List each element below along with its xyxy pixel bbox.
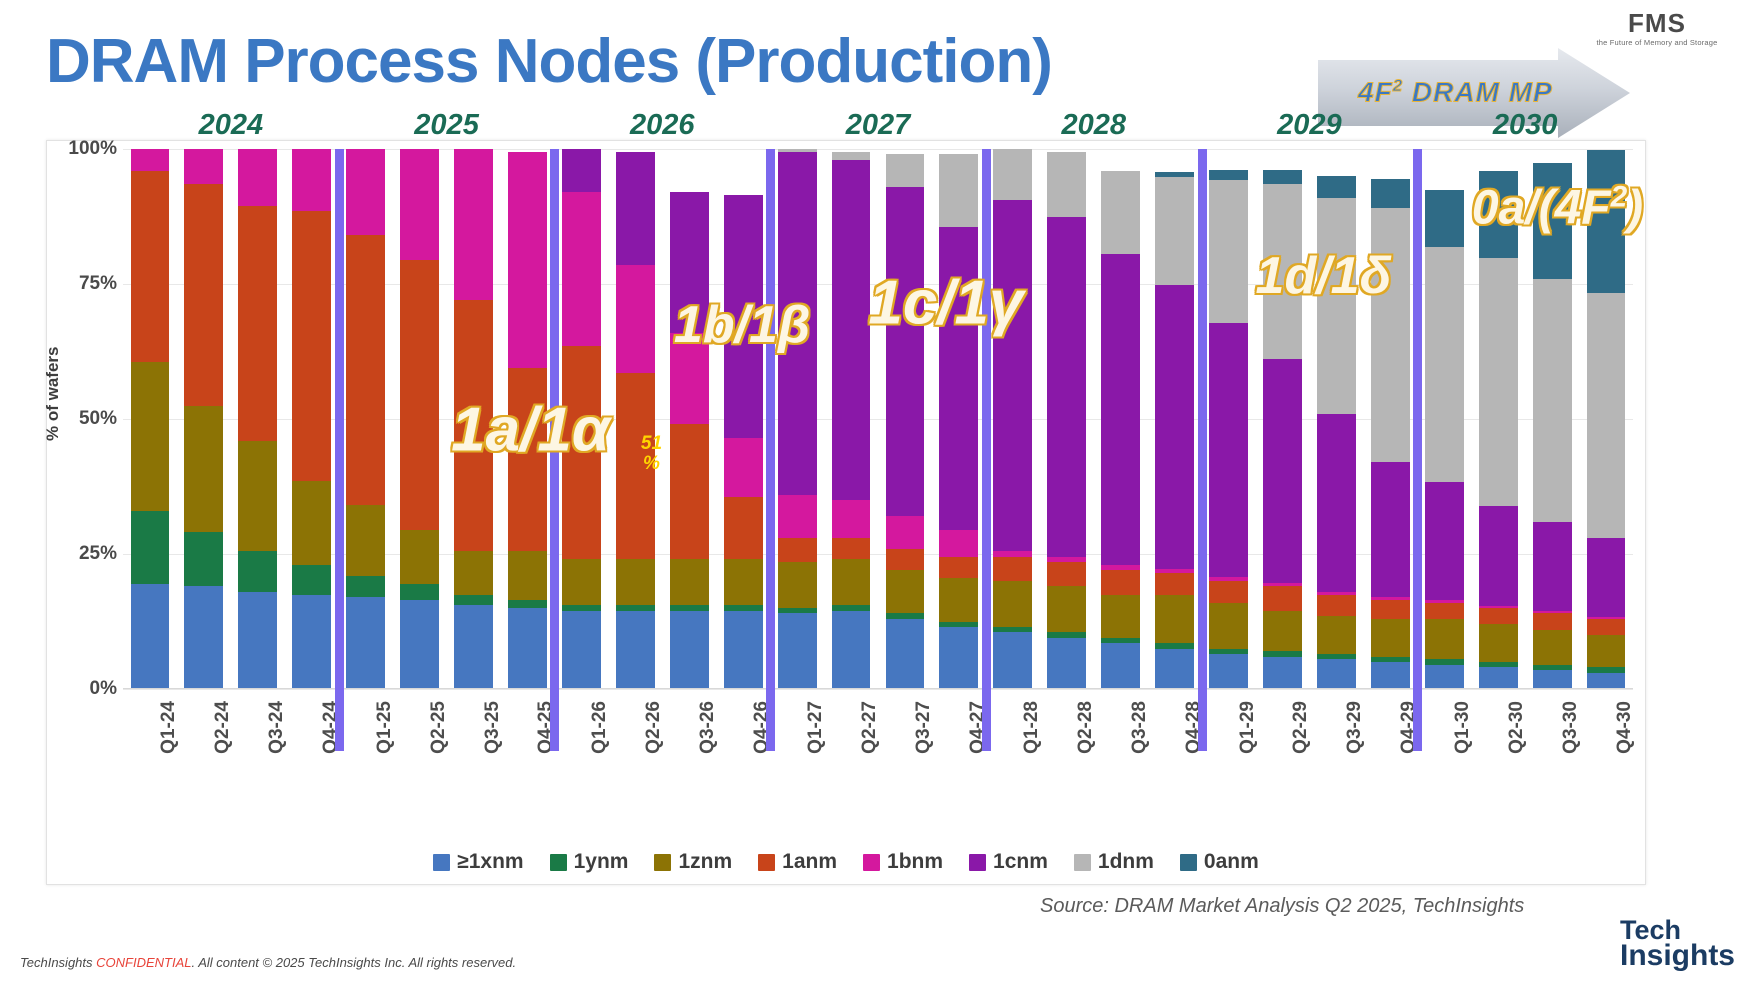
x-axis-tick-label: Q3-25 — [482, 701, 504, 754]
bar-segment[interactable] — [886, 516, 925, 548]
bar-stack[interactable] — [1533, 149, 1572, 689]
arrow-label-post: DRAM MP — [1403, 76, 1553, 107]
bar-segment[interactable] — [1263, 359, 1302, 583]
legend-item[interactable]: 1dnm — [1074, 850, 1154, 874]
bar-segment[interactable] — [508, 551, 547, 600]
bar-segment[interactable] — [1317, 659, 1356, 689]
bar-segment[interactable] — [616, 373, 655, 559]
bar-segment[interactable] — [1479, 258, 1518, 506]
legend-item[interactable]: ≥1xnm — [433, 850, 523, 874]
legend-label: 1ynm — [574, 850, 629, 874]
bar-segment[interactable] — [454, 595, 493, 606]
bar-stack[interactable] — [454, 149, 493, 689]
bar-segment[interactable] — [1209, 654, 1248, 689]
x-axis-tick-label: Q4-30 — [1614, 701, 1636, 754]
x-axis-tick-label: Q1-24 — [158, 701, 180, 754]
bar-segment[interactable] — [1425, 603, 1464, 619]
bar-stack[interactable] — [508, 149, 547, 689]
bar-segment[interactable] — [238, 206, 277, 441]
bar-segment[interactable] — [508, 152, 547, 368]
bar-segment[interactable] — [778, 613, 817, 689]
x-axis-tick-label: Q1-28 — [1021, 701, 1043, 754]
bar-segment[interactable] — [886, 549, 925, 571]
bar-segment[interactable] — [1047, 562, 1086, 586]
bar-segment[interactable] — [724, 497, 763, 559]
bar-segment[interactable] — [292, 211, 331, 481]
bar-segment[interactable] — [1209, 581, 1248, 603]
year-group-label: 2025 — [414, 109, 479, 142]
x-axis-tick-label: Q2-28 — [1075, 701, 1097, 754]
bar-segment[interactable] — [1587, 293, 1626, 539]
bar-segment[interactable] — [832, 611, 871, 689]
bar-segment[interactable] — [1263, 657, 1302, 689]
bar-segment[interactable] — [238, 592, 277, 689]
bar-segment[interactable] — [1101, 254, 1140, 565]
bar-segment[interactable] — [1425, 190, 1464, 247]
bar-segment[interactable] — [939, 557, 978, 579]
legend-item[interactable]: 0anm — [1180, 850, 1259, 874]
bar-segment[interactable] — [1263, 586, 1302, 610]
footer-prefix: TechInsights — [20, 955, 96, 970]
bar-segment[interactable] — [832, 160, 871, 500]
bar-segment[interactable] — [131, 584, 170, 689]
legend-label: 1anm — [782, 850, 837, 874]
bar-stack[interactable] — [1263, 149, 1302, 689]
year-group-label: 2026 — [630, 109, 695, 142]
bar-segment[interactable] — [778, 538, 817, 562]
x-axis-tick-label: Q2-29 — [1290, 701, 1312, 754]
bar-segment[interactable] — [939, 530, 978, 557]
bar-segment[interactable] — [939, 627, 978, 689]
bar-stack[interactable] — [939, 149, 978, 689]
bar-segment[interactable] — [1047, 217, 1086, 557]
year-divider — [1198, 149, 1207, 751]
bar-segment[interactable] — [1209, 603, 1248, 649]
bar-segment[interactable] — [616, 152, 655, 265]
bar-segment[interactable] — [238, 551, 277, 592]
bar-segment[interactable] — [1479, 667, 1518, 689]
bar-segment[interactable] — [1479, 608, 1518, 624]
legend-label: 1dnm — [1098, 850, 1154, 874]
bar-segment[interactable] — [832, 152, 871, 160]
bar-segment[interactable] — [832, 538, 871, 560]
plot-area — [123, 149, 1633, 689]
bar-segment[interactable] — [724, 559, 763, 605]
year-divider — [550, 149, 559, 751]
bar-segment[interactable] — [1479, 171, 1518, 257]
bar-segment[interactable] — [1425, 619, 1464, 660]
x-axis-tick-label: Q1-27 — [805, 701, 827, 754]
bar-segment[interactable] — [670, 559, 709, 605]
bar-stack[interactable] — [670, 149, 709, 689]
year-divider — [1413, 149, 1422, 751]
bar-segment[interactable] — [238, 441, 277, 552]
legend-swatch — [969, 854, 986, 871]
bar-segment[interactable] — [508, 608, 547, 689]
bar-stack[interactable] — [1101, 149, 1140, 689]
bar-segment[interactable] — [616, 611, 655, 689]
chart-card: % of wafers 0%25%50%75%100% 202420252026… — [46, 140, 1646, 885]
bar-segment[interactable] — [1155, 649, 1194, 690]
bar-segment[interactable] — [1425, 665, 1464, 689]
y-axis-tick-label: 0% — [90, 678, 117, 700]
bar-segment[interactable] — [400, 530, 439, 584]
bar-segment[interactable] — [1047, 586, 1086, 632]
bar-segment[interactable] — [670, 192, 709, 332]
bar-segment[interactable] — [508, 368, 547, 552]
bars-container — [123, 149, 1633, 689]
bar-segment[interactable] — [886, 570, 925, 613]
x-axis-tick-label: Q3-28 — [1129, 701, 1151, 754]
bar-segment[interactable] — [1371, 600, 1410, 619]
bar-segment[interactable] — [346, 149, 385, 235]
source-note: Source: DRAM Market Analysis Q2 2025, Te… — [1040, 895, 1524, 918]
bar-stack[interactable] — [131, 149, 170, 689]
legend-swatch — [863, 854, 880, 871]
legend-item[interactable]: 1znm — [654, 850, 732, 874]
bar-stack[interactable] — [832, 149, 871, 689]
bar-segment[interactable] — [1371, 208, 1410, 462]
bar-segment[interactable] — [292, 481, 331, 565]
bar-segment[interactable] — [184, 149, 223, 184]
legend-swatch — [433, 854, 450, 871]
x-axis-tick-label: Q1-25 — [374, 701, 396, 754]
bar-segment[interactable] — [993, 557, 1032, 581]
bar-segment[interactable] — [616, 559, 655, 605]
bar-segment[interactable] — [993, 149, 1032, 200]
bar-segment[interactable] — [1155, 285, 1194, 569]
bar-segment[interactable] — [1371, 179, 1410, 209]
bar-segment[interactable] — [400, 260, 439, 530]
bar-segment[interactable] — [184, 532, 223, 586]
bar-stack[interactable] — [1587, 149, 1626, 689]
bar-segment[interactable] — [1587, 673, 1626, 689]
bar-segment[interactable] — [1425, 482, 1464, 601]
footer-confidential-tag: CONFIDENTIAL — [96, 955, 191, 970]
bar-segment[interactable] — [1101, 595, 1140, 638]
y-axis-ticks: 0%25%50%75%100% — [47, 141, 117, 884]
bar-segment[interactable] — [184, 406, 223, 533]
bar-stack[interactable] — [886, 149, 925, 689]
footer-suffix: . All content © 2025 TechInsights Inc. A… — [191, 955, 516, 970]
y-axis-tick-label: 100% — [68, 138, 117, 160]
bar-segment[interactable] — [454, 551, 493, 594]
year-group-label: 2028 — [1061, 109, 1126, 142]
bar-segment[interactable] — [508, 600, 547, 608]
bar-stack[interactable] — [238, 149, 277, 689]
bar-segment[interactable] — [1533, 613, 1572, 629]
bar-stack[interactable] — [292, 149, 331, 689]
bar-segment[interactable] — [346, 576, 385, 598]
year-group-label: 2030 — [1493, 109, 1558, 142]
year-divider — [766, 149, 775, 751]
legend-label: 1bnm — [887, 850, 943, 874]
x-axis-tick-label: Q3-27 — [913, 701, 935, 754]
bar-segment[interactable] — [886, 154, 925, 186]
bar-segment[interactable] — [562, 559, 601, 605]
bar-stack[interactable] — [1317, 149, 1356, 689]
gridline — [123, 689, 1633, 690]
bar-segment[interactable] — [1101, 171, 1140, 255]
bar-segment[interactable] — [1371, 619, 1410, 657]
bar-segment[interactable] — [1533, 279, 1572, 522]
techinsights-logo-line2: Insights — [1620, 942, 1735, 970]
legend-swatch — [758, 854, 775, 871]
bar-stack[interactable] — [1425, 149, 1464, 689]
bar-segment[interactable] — [1479, 624, 1518, 662]
bar-segment[interactable] — [993, 581, 1032, 627]
x-axis-labels: Q1-24Q2-24Q3-24Q4-24Q1-25Q2-25Q3-25Q4-25… — [123, 697, 1633, 807]
bar-segment[interactable] — [346, 597, 385, 689]
x-axis-tick-label: Q2-26 — [643, 701, 665, 754]
x-axis-tick-label: Q3-30 — [1560, 701, 1582, 754]
bar-segment[interactable] — [724, 611, 763, 689]
bar-segment[interactable] — [832, 500, 871, 538]
bar-segment[interactable] — [616, 265, 655, 373]
bar-segment[interactable] — [1533, 163, 1572, 279]
footer-copyright: TechInsights CONFIDENTIAL. All content ©… — [20, 955, 516, 970]
bar-segment[interactable] — [400, 600, 439, 689]
bar-segment[interactable] — [832, 559, 871, 605]
bar-segment[interactable] — [993, 200, 1032, 551]
x-axis-tick-label: Q3-24 — [266, 701, 288, 754]
bar-stack[interactable] — [778, 149, 817, 689]
bar-segment[interactable] — [562, 611, 601, 689]
year-group-label: 2027 — [846, 109, 911, 142]
bar-stack[interactable] — [993, 149, 1032, 689]
bar-segment[interactable] — [1587, 538, 1626, 616]
y-axis-tick-label: 75% — [79, 273, 117, 295]
bar-segment[interactable] — [1587, 619, 1626, 635]
bar-stack[interactable] — [1479, 149, 1518, 689]
bar-segment[interactable] — [1101, 643, 1140, 689]
bar-segment[interactable] — [1587, 635, 1626, 667]
bar-segment[interactable] — [1047, 152, 1086, 217]
legend-item[interactable]: 1anm — [758, 850, 837, 874]
bar-segment[interactable] — [778, 562, 817, 608]
bar-segment[interactable] — [1533, 630, 1572, 665]
legend-item[interactable]: 1cnm — [969, 850, 1048, 874]
bar-segment[interactable] — [1317, 414, 1356, 592]
year-group-label: 2024 — [199, 109, 264, 142]
bar-segment[interactable] — [778, 495, 817, 538]
bar-segment[interactable] — [400, 149, 439, 260]
bar-segment[interactable] — [1317, 176, 1356, 198]
x-axis-tick-label: Q3-29 — [1344, 701, 1366, 754]
bar-segment[interactable] — [1209, 180, 1248, 323]
bar-segment[interactable] — [778, 152, 817, 495]
bar-segment[interactable] — [993, 632, 1032, 689]
bar-segment[interactable] — [724, 438, 763, 497]
legend-item[interactable]: 1ynm — [550, 850, 629, 874]
legend-label: 0anm — [1204, 850, 1259, 874]
x-axis-tick-label: Q2-24 — [212, 701, 234, 754]
bar-segment[interactable] — [1209, 323, 1248, 577]
arrow-banner-label: 4F2 DRAM MP — [1358, 76, 1553, 108]
bar-stack[interactable] — [1371, 149, 1410, 689]
bar-segment[interactable] — [1263, 170, 1302, 184]
bar-segment[interactable] — [454, 149, 493, 300]
bar-segment[interactable] — [1263, 184, 1302, 360]
bar-segment[interactable] — [1155, 177, 1194, 285]
bar-segment[interactable] — [1263, 611, 1302, 652]
bar-stack[interactable] — [1155, 149, 1194, 689]
bar-segment[interactable] — [1317, 595, 1356, 617]
year-group-label: 2029 — [1277, 109, 1342, 142]
fms-logo-tagline: the Future of Memory and Storage — [1596, 38, 1717, 47]
bar-segment[interactable] — [1371, 462, 1410, 597]
legend-swatch — [1180, 854, 1197, 871]
x-axis-tick-label: Q1-30 — [1452, 701, 1474, 754]
bar-segment[interactable] — [131, 171, 170, 363]
x-axis-tick-label: Q3-26 — [697, 701, 719, 754]
year-divider — [982, 149, 991, 751]
fms-logo-mark: FMS — [1628, 10, 1686, 36]
bar-stack[interactable] — [184, 149, 223, 689]
bar-segment[interactable] — [292, 565, 331, 595]
x-axis-tick-label: Q2-27 — [859, 701, 881, 754]
bar-segment[interactable] — [131, 149, 170, 171]
bar-segment[interactable] — [292, 595, 331, 690]
bar-segment[interactable] — [562, 192, 601, 346]
bar-segment[interactable] — [886, 619, 925, 689]
bar-segment[interactable] — [1047, 638, 1086, 689]
page-title: DRAM Process Nodes (Production) — [46, 26, 1052, 97]
year-divider — [335, 149, 344, 751]
chart-legend: ≥1xnm1ynm1znm1anm1bnm1cnm1dnm0anm — [47, 850, 1645, 874]
x-axis-tick-label: Q1-29 — [1237, 701, 1259, 754]
bar-segment[interactable] — [346, 505, 385, 575]
bar-segment[interactable] — [400, 584, 439, 600]
legend-item[interactable]: 1bnm — [863, 850, 943, 874]
bar-segment[interactable] — [454, 300, 493, 551]
bar-segment[interactable] — [346, 235, 385, 505]
bar-segment[interactable] — [939, 227, 978, 529]
bar-segment[interactable] — [238, 149, 277, 206]
legend-label: 1cnm — [993, 850, 1048, 874]
y-axis-tick-label: 50% — [79, 408, 117, 430]
bar-segment[interactable] — [724, 195, 763, 438]
bar-segment[interactable] — [670, 333, 709, 425]
bar-segment[interactable] — [1533, 670, 1572, 689]
bar-segment[interactable] — [1101, 570, 1140, 594]
bar-segment[interactable] — [184, 586, 223, 689]
bar-segment[interactable] — [939, 154, 978, 227]
bar-segment[interactable] — [562, 346, 601, 559]
slide-root: FMS the Future of Memory and Storage DRA… — [0, 0, 1749, 984]
bar-stack[interactable] — [562, 149, 601, 689]
bar-stack[interactable] — [616, 149, 655, 689]
bar-segment[interactable] — [1209, 170, 1248, 181]
bar-segment[interactable] — [1317, 198, 1356, 414]
bar-segment[interactable] — [1425, 247, 1464, 482]
x-axis-tick-label: Q2-30 — [1506, 701, 1528, 754]
bar-segment[interactable] — [131, 362, 170, 511]
bar-stack[interactable] — [1209, 149, 1248, 689]
legend-swatch — [1074, 854, 1091, 871]
bar-stack[interactable] — [346, 149, 385, 689]
legend-label: 1znm — [678, 850, 732, 874]
x-axis-line — [123, 688, 1633, 689]
bar-segment[interactable] — [184, 184, 223, 405]
arrow-label-sup: 2 — [1393, 76, 1403, 95]
bar-segment[interactable] — [1155, 573, 1194, 595]
x-axis-tick-label: Q1-26 — [589, 701, 611, 754]
bar-stack[interactable] — [1047, 149, 1086, 689]
bar-segment[interactable] — [1587, 150, 1626, 293]
legend-label: ≥1xnm — [457, 850, 523, 874]
bar-segment[interactable] — [670, 424, 709, 559]
bar-segment[interactable] — [886, 187, 925, 516]
arrow-label-pre: 4F — [1358, 76, 1393, 107]
bar-segment[interactable] — [670, 611, 709, 689]
y-axis-tick-label: 25% — [79, 543, 117, 565]
bar-segment[interactable] — [1479, 506, 1518, 606]
bar-segment[interactable] — [131, 511, 170, 584]
legend-swatch — [550, 854, 567, 871]
bar-segment[interactable] — [1155, 595, 1194, 644]
bar-segment[interactable] — [562, 149, 601, 192]
bar-segment[interactable] — [1317, 616, 1356, 654]
bar-segment[interactable] — [1533, 522, 1572, 611]
bar-stack[interactable] — [724, 149, 763, 689]
bar-segment[interactable] — [1371, 662, 1410, 689]
bar-segment[interactable] — [454, 605, 493, 689]
bar-segment[interactable] — [292, 149, 331, 211]
fms-logo: FMS the Future of Memory and Storage — [1573, 4, 1741, 52]
bar-stack[interactable] — [400, 149, 439, 689]
bar-segment[interactable] — [939, 578, 978, 621]
legend-swatch — [654, 854, 671, 871]
techinsights-logo: Tech Insights — [1620, 918, 1735, 970]
x-axis-tick-label: Q2-25 — [428, 701, 450, 754]
